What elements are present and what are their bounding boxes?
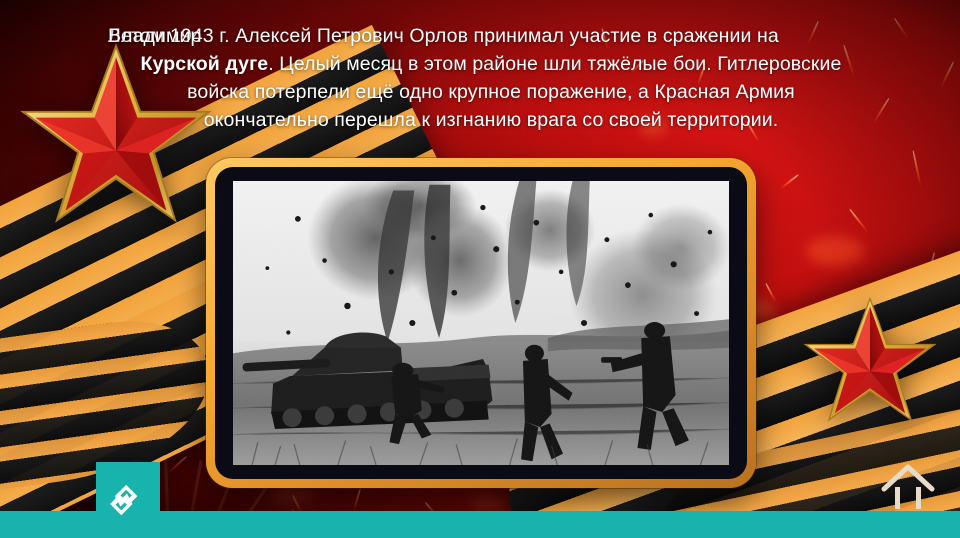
photo-frame[interactable] (206, 158, 756, 488)
photo-bezel (215, 167, 747, 479)
slide-text-block: Летом 1943 г. Алексей Петрович Орлов при… (96, 22, 886, 134)
text-line-1-main: Летом 1943 г. Алексей Петрович Орлов при… (108, 25, 779, 47)
slide-canvas: Летом 1943 г. Алексей Петрович Орлов при… (0, 0, 960, 538)
overlapping-name-text: Владимир (108, 22, 201, 50)
logo-tile[interactable] (96, 462, 160, 538)
text-line-4: окончательно перешла к изгнанию врага со… (96, 106, 886, 134)
text-line-2: Курской дуге. Целый месяц в этом районе … (96, 50, 886, 78)
logo-icon (107, 479, 149, 521)
text-line-1: Летом 1943 г. Алексей Петрович Орлов при… (96, 22, 886, 50)
text-line-2-rest: . Целый месяц в этом районе шли тяжёлые … (268, 53, 841, 75)
battle-photo[interactable] (233, 181, 729, 465)
red-star-right (802, 296, 938, 428)
text-line-2-bold: Курской дуге (141, 53, 269, 75)
home-icon (878, 459, 938, 511)
text-line-3: войска потерпели ещё одно крупное пораже… (96, 78, 886, 106)
home-button[interactable] (878, 459, 938, 511)
